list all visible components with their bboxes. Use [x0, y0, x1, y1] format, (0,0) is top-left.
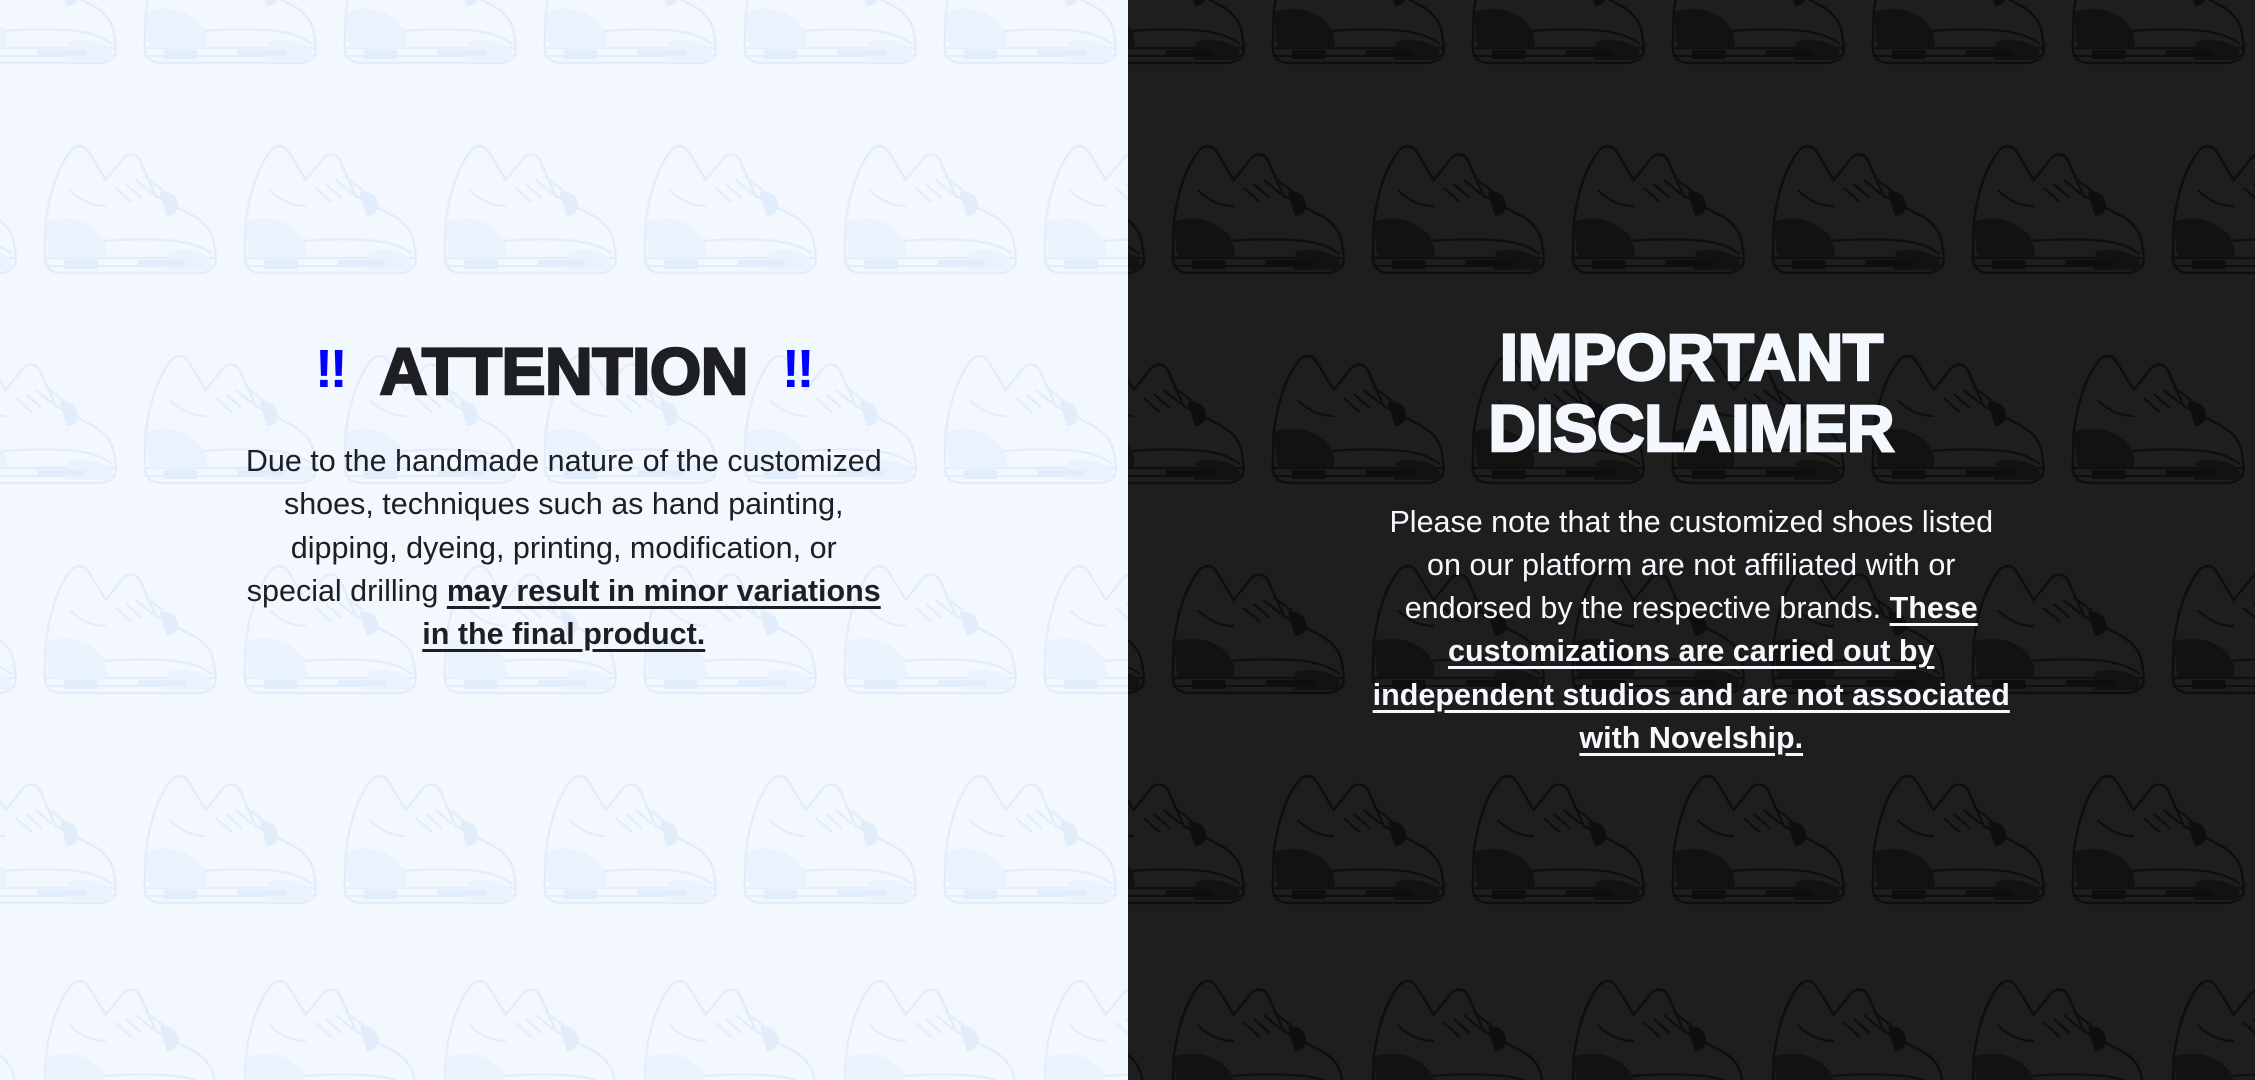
attention-body-emphasis: may result in minor variations in the fi…: [422, 574, 880, 651]
disclaimer-heading: IMPORTANT DISCLAIMER: [1488, 322, 1894, 465]
double-exclamation-left-icon: ‼: [315, 342, 346, 396]
disclaimer-body: Please note that the customized shoes li…: [1371, 501, 2011, 761]
disclaimer-heading-line2: DISCLAIMER: [1488, 393, 1894, 464]
attention-panel: ‼ ATTENTION ‼ Due to the handmade nature…: [0, 0, 1128, 1080]
attention-body: Due to the handmade nature of the custom…: [244, 440, 884, 656]
disclaimer-panel: IMPORTANT DISCLAIMER Please note that th…: [1128, 0, 2255, 1080]
double-exclamation-right-icon: ‼: [782, 342, 813, 396]
attention-heading-text: ATTENTION: [380, 338, 748, 404]
disclaimer-content: IMPORTANT DISCLAIMER Please note that th…: [1128, 0, 2255, 760]
disclaimer-heading-line1: IMPORTANT: [1500, 322, 1883, 393]
attention-content: ‼ ATTENTION ‼ Due to the handmade nature…: [0, 0, 1128, 656]
dual-panel-notice: ‼ ATTENTION ‼ Due to the handmade nature…: [0, 0, 2255, 1080]
attention-heading: ‼ ATTENTION ‼: [315, 338, 812, 404]
